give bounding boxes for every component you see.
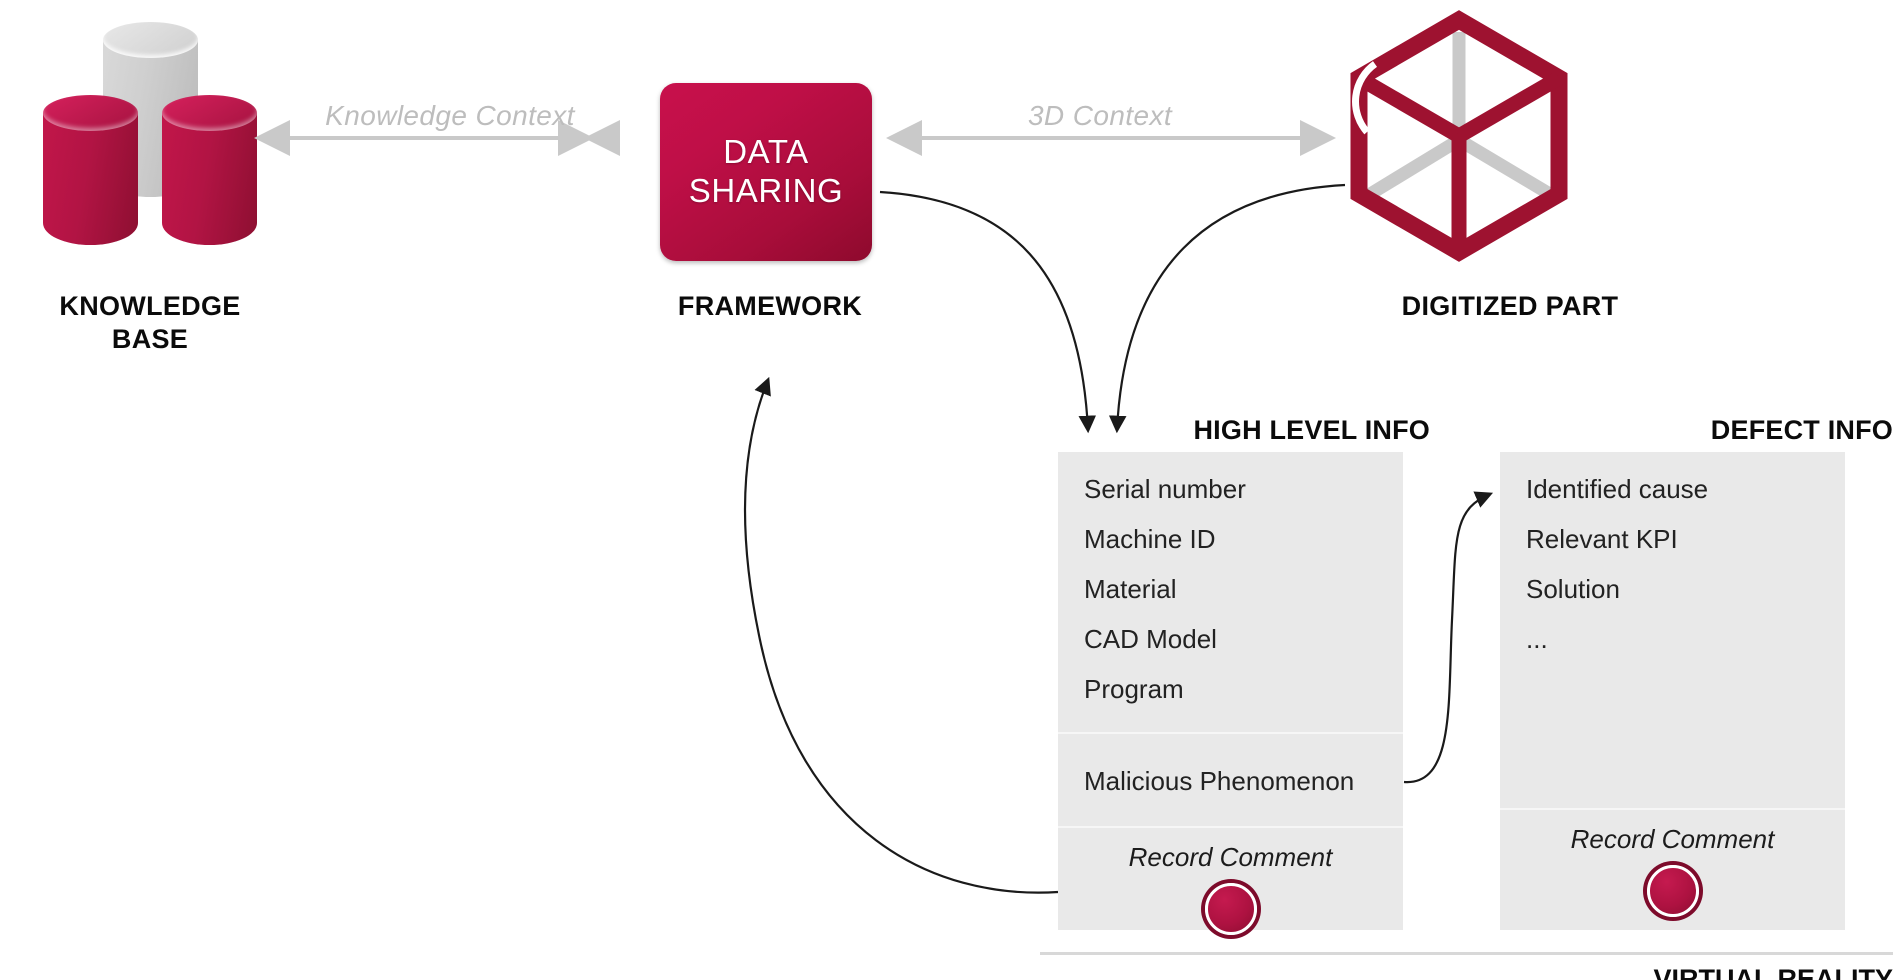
list-item[interactable]: Relevant KPI (1500, 514, 1845, 564)
three-d-context-label: 3D Context (880, 100, 1320, 132)
list-item[interactable]: Machine ID (1058, 514, 1403, 564)
list-item[interactable]: Solution (1500, 564, 1845, 614)
database-cylinders-icon (30, 10, 280, 240)
hexagon-inner-spokes-icon (1367, 32, 1553, 196)
defect-info-panel[interactable]: Identified cause Relevant KPI Solution .… (1500, 452, 1845, 930)
high-level-info-panel[interactable]: Serial number Machine ID Material CAD Mo… (1058, 452, 1403, 930)
list-item[interactable]: CAD Model (1058, 614, 1403, 664)
phenomenon-to-cause-arrow (1404, 494, 1490, 782)
record-comment-label: Record Comment (1500, 824, 1845, 855)
list-item[interactable]: Material (1058, 564, 1403, 614)
high-level-info-title: HIGH LEVEL INFO (960, 415, 1430, 446)
record-comment-label: Record Comment (1058, 842, 1403, 873)
cylinder-left-icon (43, 95, 138, 245)
list-item[interactable]: ... (1500, 614, 1845, 664)
framework-caption: FRAMEWORK (600, 290, 940, 323)
hexagon-outline-icon (1359, 20, 1559, 252)
footer-divider (1040, 952, 1893, 955)
divider (1500, 808, 1845, 810)
defect-info-title: DEFECT INFO (1380, 415, 1893, 446)
record-button[interactable] (1647, 865, 1699, 917)
record-button[interactable] (1205, 883, 1257, 935)
data-sharing-box[interactable]: DATA SHARING (660, 83, 872, 261)
cylinder-right-icon (162, 95, 257, 245)
record-to-framework-feedback-arrow (745, 380, 1058, 893)
divider (1058, 826, 1403, 828)
list-item[interactable]: Identified cause (1500, 464, 1845, 514)
diagram-canvas: KNOWLEDGE BASE DATA SHARING FRAMEWORK (0, 0, 1893, 980)
virtual-reality-caption: VIRTUAL REALITY (1380, 964, 1893, 980)
knowledge-context-label: Knowledge Context (250, 100, 650, 132)
list-item[interactable]: Program (1058, 664, 1403, 714)
hexagon-notch-icon (1356, 64, 1375, 132)
list-item[interactable]: Serial number (1058, 464, 1403, 514)
digitized-part-caption: DIGITIZED PART (1290, 290, 1730, 323)
hexagon-red-spokes-icon (1359, 78, 1559, 252)
knowledge-base-caption: KNOWLEDGE BASE (0, 290, 300, 356)
malicious-phenomenon-row[interactable]: Malicious Phenomenon (1058, 756, 1403, 806)
data-sharing-label: DATA SHARING (689, 133, 844, 211)
